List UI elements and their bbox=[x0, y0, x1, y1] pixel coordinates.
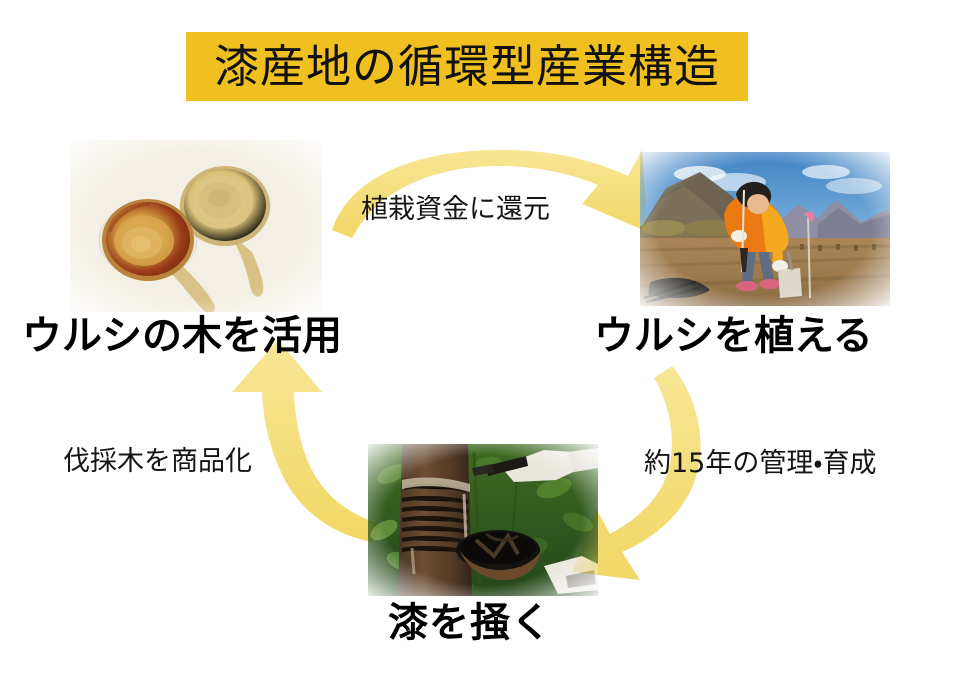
tree-planting-in-field-photo bbox=[640, 152, 890, 306]
edge-label-use-to-plant: 植栽資金に還元 bbox=[361, 196, 550, 223]
node-label-use-wood: ウルシの木を活用 bbox=[22, 316, 342, 356]
edge-label-tap-to-use: 伐採木を商品化 bbox=[63, 448, 252, 475]
page-title: 漆産地の循環型産業構造 bbox=[214, 44, 720, 89]
page-title-band: 漆産地の循環型産業構造 bbox=[186, 32, 748, 101]
slide-canvas: 漆産地の循環型産業構造 bbox=[0, 0, 960, 677]
arrow-tap-to-use bbox=[232, 340, 382, 542]
node-label-plant-urushi: ウルシを植える bbox=[594, 316, 873, 356]
wooden-lacquer-ladles-photo bbox=[70, 140, 322, 312]
node-label-tap-lacquer: 漆を掻く bbox=[388, 603, 552, 643]
lacquer-tapping-tree-trunk-photo bbox=[368, 444, 598, 596]
edge-label-plant-to-tap: 約15年の管理・育成 bbox=[644, 450, 877, 477]
